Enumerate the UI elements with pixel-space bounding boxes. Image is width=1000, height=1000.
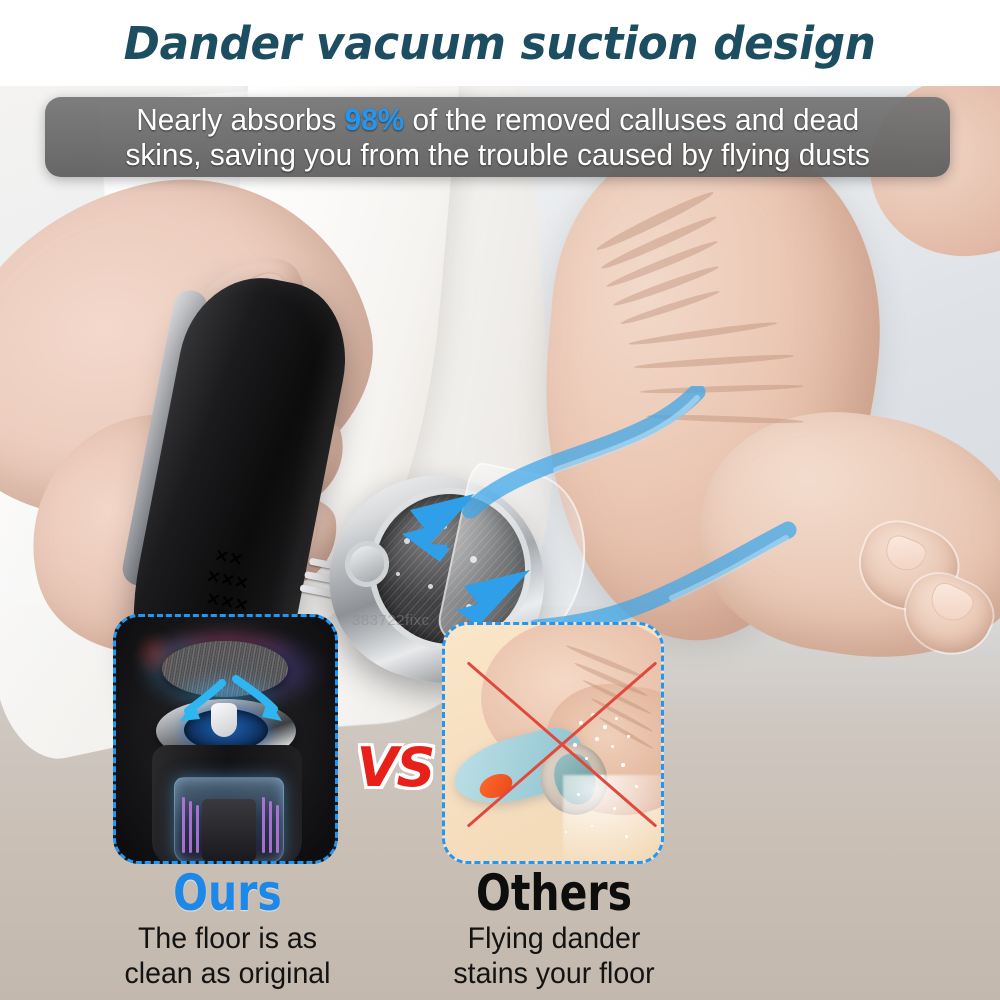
caption-highlight-percent: 98% xyxy=(344,102,404,137)
airflow-arrow-top xyxy=(396,488,486,568)
caption-line2: skins, saving you from the trouble cause… xyxy=(125,137,869,172)
caption-line1-before: Nearly absorbs xyxy=(136,102,344,137)
feature-caption-banner: Nearly absorbs 98% of the removed callus… xyxy=(45,97,950,177)
airflow-arrow-bottom xyxy=(448,566,538,646)
header-band: Dander vacuum suction design xyxy=(0,0,1000,86)
page-title: Dander vacuum suction design xyxy=(124,17,876,70)
product-marketing-image: ✕✕ ✕✕✕ ✕✕✕ ✕✕✕ ✕✕ ✕ xyxy=(0,0,1000,1000)
image-watermark: 383722fixc xyxy=(352,612,430,629)
feature-caption-text: Nearly absorbs 98% of the removed callus… xyxy=(125,102,869,172)
product-photo-scene: ✕✕ ✕✕✕ ✕✕✕ ✕✕✕ ✕✕ ✕ xyxy=(0,86,1000,1000)
caption-line1-after: of the removed calluses and dead xyxy=(404,102,859,137)
